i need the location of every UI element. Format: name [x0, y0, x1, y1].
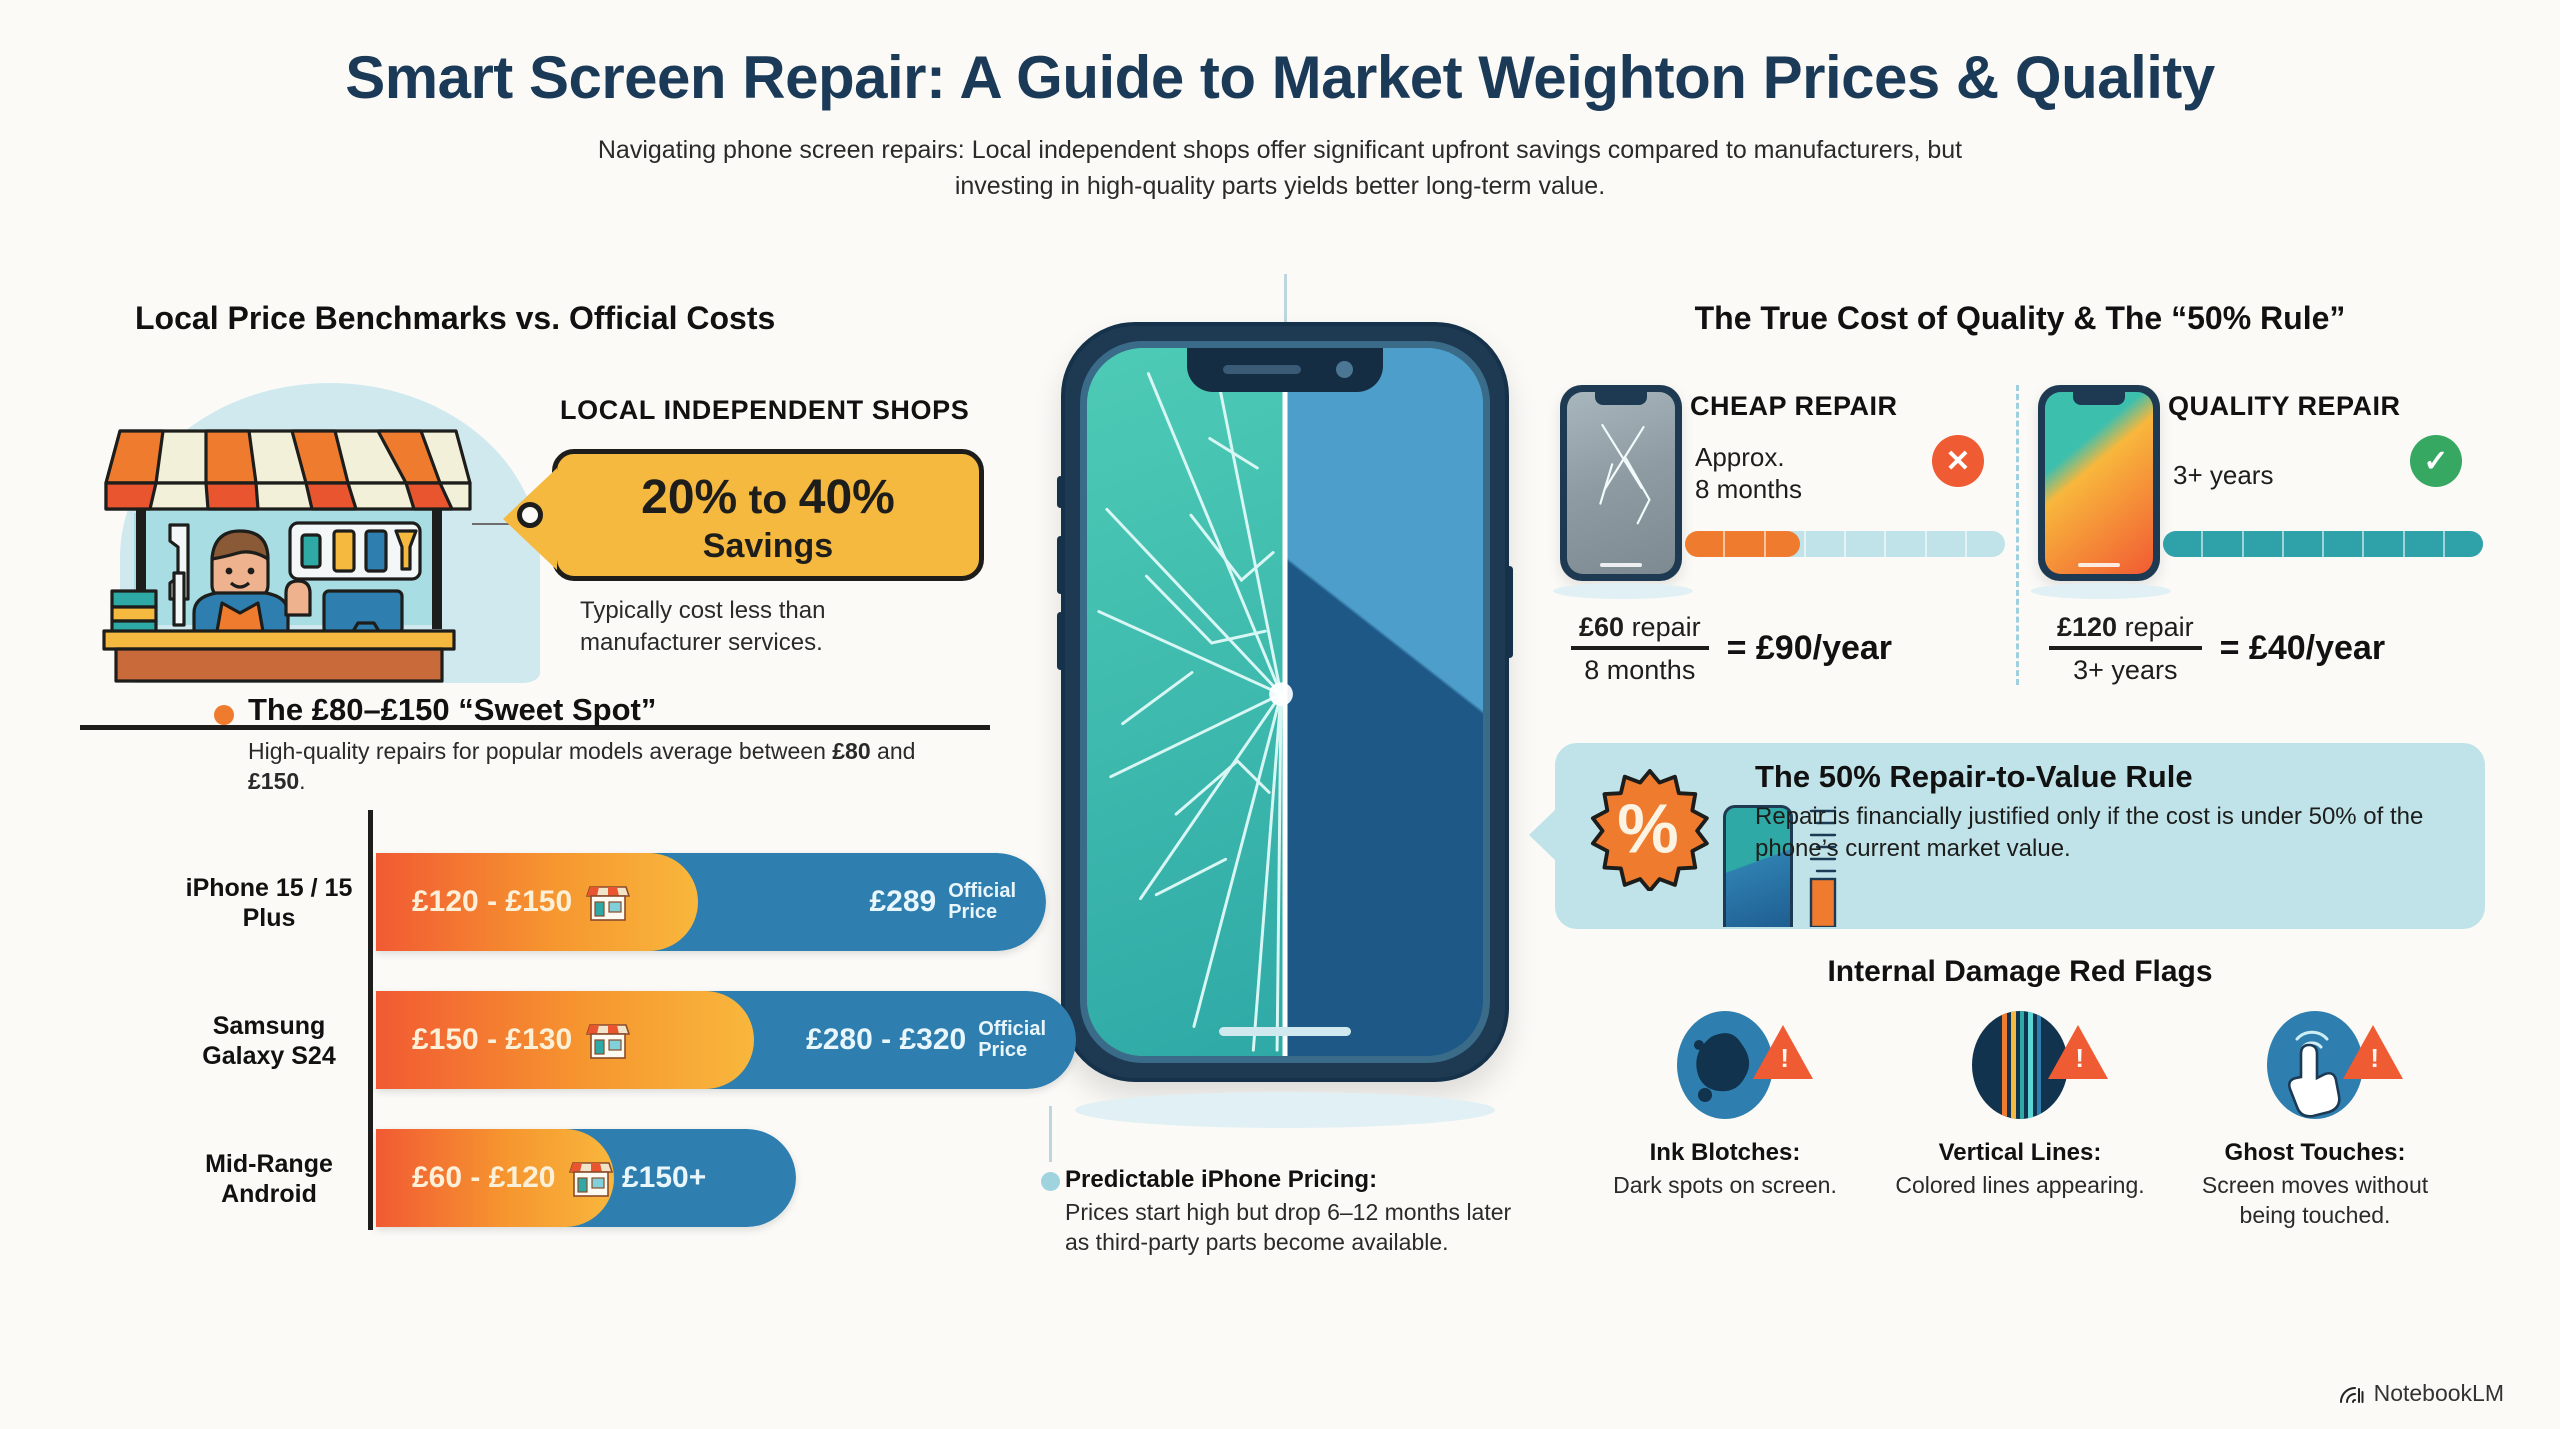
phone-shadow [1075, 1092, 1495, 1128]
svg-text:%: % [1617, 789, 1678, 867]
rule-body: Repair is financially justified only if … [1755, 801, 2455, 866]
bullet-dot-icon [214, 705, 234, 725]
list-item: ! Vertical Lines: Colored lines appearin… [1880, 1011, 2160, 1231]
phone-stem-line [1284, 274, 1287, 322]
cheap-phone-thumbnail [1560, 385, 1682, 581]
quality-phone-thumbnail [2038, 385, 2160, 581]
infographic-header: Smart Screen Repair: A Guide to Market W… [0, 0, 2560, 204]
fifty-percent-rule-box: % The 50% Repair-to-Value Rule Repair is… [1555, 743, 2485, 929]
home-indicator-icon [2078, 563, 2120, 567]
rule-box-pointer [1529, 809, 1556, 861]
meter-ticks [2163, 531, 2483, 557]
flag-description: Colored lines appearing. [1880, 1171, 2160, 1201]
shop-icon [569, 1158, 613, 1198]
cheap-numerator-word: repair [1624, 612, 1701, 642]
quality-fraction: £120 repair 3+ years [2049, 611, 2202, 687]
savings-word: Savings [557, 527, 979, 566]
meter-ticks [1685, 531, 2005, 557]
sweet-body-v2: £150 [248, 768, 299, 794]
cracked-phone-illustration [1045, 322, 1525, 1082]
quality-numerator: £120 repair [2049, 611, 2202, 646]
shop-icon [586, 1020, 630, 1060]
phone-bezel [1080, 341, 1490, 1063]
note-body: Prices start high but drop 6–12 months l… [1065, 1197, 1517, 1258]
sweet-spot-body: High-quality repairs for popular models … [248, 736, 968, 797]
bar-official-value: £289 [869, 885, 936, 919]
note-bullet-dot-icon [1041, 1172, 1060, 1191]
brand-label: NotebookLM [2374, 1380, 2504, 1407]
cheap-lifespan-line1: Approx. [1695, 441, 1802, 473]
home-indicator-icon [1600, 563, 1642, 567]
percent-badge-icon: % [1589, 769, 1711, 891]
cheap-numerator: £60 repair [1571, 611, 1709, 646]
savings-note: Typically cost less than manufacturer se… [580, 595, 960, 658]
cheap-phone-screen [1567, 392, 1675, 574]
table-row: Mid-Range Android £150+ £60 - £120 [180, 1121, 1080, 1236]
left-section-title: Local Price Benchmarks vs. Official Cost… [80, 300, 1090, 337]
tag-hole-icon [517, 502, 543, 528]
flag-title: Ink Blotches: [1585, 1139, 1865, 1167]
cheap-cost-math: £60 repair 8 months = £90/year [1571, 611, 1892, 687]
volume-up-icon [1057, 536, 1064, 594]
table-row: Samsung Galaxy S24 £280 - £320 OfficialP… [180, 983, 1080, 1098]
bar-category-label: Samsung Galaxy S24 [180, 1011, 358, 1071]
quality-lifespan-meter [2163, 531, 2483, 557]
warning-glyph: ! [2075, 1045, 2084, 1071]
quality-phone-screen [2045, 392, 2153, 574]
price-comparison-chart: iPhone 15 / 15 Plus £289 OfficialPrice £… [180, 845, 1080, 1259]
quality-annual-cost: = £40/year [2220, 629, 2385, 668]
page-title: Smart Screen Repair: A Guide to Market W… [0, 46, 2560, 109]
official-price-tag: OfficialPrice [978, 1019, 1046, 1061]
quality-repair-heading: QUALITY REPAIR [2168, 391, 2401, 422]
quality-numerator-value: £120 [2057, 612, 2117, 642]
bar-track: £289 OfficialPrice £120 - £150 [376, 853, 1046, 951]
cheap-denominator: 8 months [1571, 650, 1709, 686]
official-price-tag: OfficialPrice [948, 881, 1016, 923]
left-column: Local Price Benchmarks vs. Official Cost… [80, 300, 1090, 703]
phone-notch [1187, 348, 1383, 392]
ink-blotch-icon: ! [1585, 1011, 1865, 1123]
red-flags-title: Internal Damage Red Flags [1555, 955, 2485, 989]
note-title: Predictable iPhone Pricing: [1065, 1166, 1517, 1194]
earpiece-speaker-icon [1223, 365, 1301, 374]
warning-glyph: ! [1780, 1045, 1789, 1071]
volume-down-icon [1057, 612, 1064, 670]
quality-lifespan: 3+ years [2173, 459, 2273, 491]
bar-local-value: £120 - £150 [412, 885, 572, 919]
cheap-annual-cost: = £90/year [1727, 629, 1892, 668]
power-button-icon [1506, 566, 1513, 658]
bar-official-value: £150+ [622, 1161, 706, 1195]
vertical-lines-icon: ! [1880, 1011, 2160, 1123]
sweet-spot-callout: The £80–£150 “Sweet Spot” High-quality r… [248, 692, 968, 797]
bar-local-segment: £120 - £150 [376, 853, 698, 951]
phone-body [1061, 322, 1509, 1082]
flag-description: Dark spots on screen. [1585, 1171, 1865, 1201]
phone-screen [1087, 348, 1483, 1056]
phone-shadow [1553, 583, 1693, 599]
notebooklm-watermark: NotebookLM [2338, 1380, 2504, 1407]
repair-shop-illustration [90, 413, 540, 683]
page-subtitle: Navigating phone screen repairs: Local i… [565, 133, 1995, 204]
bar-category-label: Mid-Range Android [180, 1149, 358, 1209]
sweet-body-pre: High-quality repairs for popular models … [248, 738, 832, 764]
front-camera-icon [1336, 361, 1353, 378]
quality-cost-math: £120 repair 3+ years = £40/year [2049, 611, 2385, 687]
crack-pattern-icon [1567, 392, 1675, 574]
savings-range: 20% to 40% [557, 470, 979, 525]
quality-denominator: 3+ years [2049, 650, 2202, 686]
bar-track: £280 - £320 OfficialPrice £150 - £130 [376, 991, 1076, 1089]
table-row: iPhone 15 / 15 Plus £289 OfficialPrice £… [180, 845, 1080, 960]
cross-icon: ✕ [1932, 435, 1984, 487]
shop-icon [586, 882, 630, 922]
note-connector-line [1049, 1106, 1052, 1162]
right-section-title: The True Cost of Quality & The “50% Rule… [1555, 300, 2485, 337]
vertical-divider [2016, 385, 2019, 685]
list-item: ! Ghost Touches: Screen moves without be… [2175, 1011, 2455, 1231]
check-icon: ✓ [2410, 435, 2462, 487]
local-shops-label: LOCAL INDEPENDENT SHOPS [560, 395, 969, 426]
red-flags-section: Internal Damage Red Flags ! [1555, 955, 2485, 1231]
cheap-lifespan-line2: 8 months [1695, 473, 1802, 505]
sweet-body-v1: £80 [832, 738, 870, 764]
quality-comparison: CHEAP REPAIR App [1555, 385, 2485, 735]
savings-to: 40% [799, 471, 895, 524]
list-item: ! Ink Blotches: Dark spots on screen. [1585, 1011, 1865, 1231]
savings-joiner: to [749, 476, 788, 522]
predictable-pricing-note: Predictable iPhone Pricing: Prices start… [1065, 1166, 1517, 1258]
flag-description: Screen moves without being touched. [2175, 1171, 2455, 1231]
notebooklm-logo-icon [2338, 1383, 2364, 1405]
bar-local-segment: £150 - £130 [376, 991, 754, 1089]
bar-local-segment: £60 - £120 [376, 1129, 614, 1227]
flag-title: Ghost Touches: [2175, 1139, 2455, 1167]
bar-track: £150+ £60 - £120 [376, 1129, 796, 1227]
rule-title: The 50% Repair-to-Value Rule [1755, 759, 2193, 795]
local-shops-block: LOCAL INDEPENDENT SHOPS 20% to 40% Savin… [80, 373, 1090, 703]
quality-numerator-word: repair [2117, 612, 2194, 642]
savings-from: 20% [641, 471, 737, 524]
home-indicator-icon [1219, 1027, 1351, 1036]
cheap-repair-heading: CHEAP REPAIR [1690, 391, 1898, 422]
bar-local-value: £60 - £120 [412, 1161, 555, 1195]
savings-price-tag: 20% to 40% Savings [552, 449, 984, 581]
bar-official-value: £280 - £320 [806, 1023, 966, 1057]
cheap-fraction: £60 repair 8 months [1571, 611, 1709, 687]
cheap-numerator-value: £60 [1579, 612, 1624, 642]
sweet-body-end: . [299, 768, 305, 794]
sweet-spot-title: The £80–£150 “Sweet Spot” [248, 692, 968, 728]
phone-shadow [2031, 583, 2171, 599]
screen-split-line [1283, 348, 1288, 1056]
mute-switch-icon [1057, 476, 1064, 508]
bar-category-label: iPhone 15 / 15 Plus [180, 873, 358, 933]
phone-notch [2073, 392, 2125, 405]
warning-glyph: ! [2370, 1045, 2379, 1071]
right-column: The True Cost of Quality & The “50% Rule… [1555, 300, 2485, 1231]
cheap-lifespan-meter [1685, 531, 2005, 557]
bar-local-value: £150 - £130 [412, 1023, 572, 1057]
ghost-touch-icon: ! [2175, 1011, 2455, 1123]
red-flags-list: ! Ink Blotches: Dark spots on screen. [1555, 1011, 2485, 1231]
cheap-lifespan: Approx. 8 months [1695, 441, 1802, 505]
content-columns: Local Price Benchmarks vs. Official Cost… [0, 300, 2560, 1429]
flag-title: Vertical Lines: [1880, 1139, 2160, 1167]
sweet-body-mid: and [871, 738, 916, 764]
